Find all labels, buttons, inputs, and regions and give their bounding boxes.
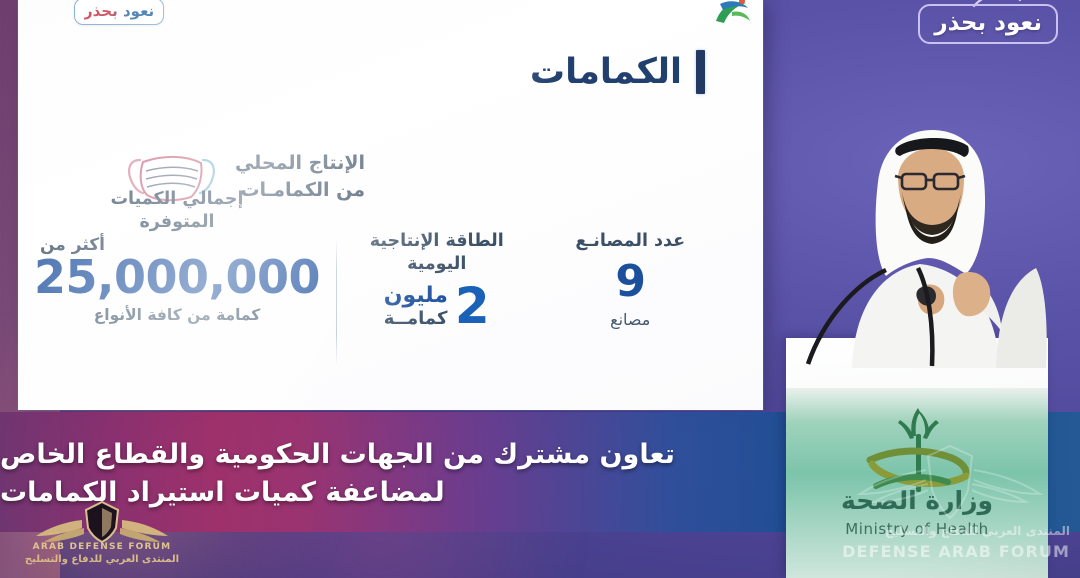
stat-daily-capacity: الطاقة الإنتاجية اليومية 2 مليون كمامــة: [337, 230, 537, 330]
stat-total-available: إجمالي الكميات المتوفرة أكثر من 25,000,0…: [18, 188, 336, 324]
stat-total-label-line1: إجمالي الكميات: [34, 188, 320, 211]
watermark-arab-defense-forum: ARAB DEFENSE FORUM المنتدى العربي للدفاع…: [12, 498, 212, 570]
stat-capacity-label-line1: الطاقة الإنتاجية: [353, 230, 521, 253]
banner-line-1: تعاون مشترك من الجهات الحكومية والقطاع ا…: [0, 436, 675, 474]
watermark-left-ar: المنتدى العربي للدفاع والتسليح: [12, 554, 192, 565]
stat-total-label-line2: المتوفرة: [34, 211, 320, 234]
adf-shield-icon: [12, 498, 192, 548]
watermark-right-ar: المنتدى العربي للدفاع والتسليح: [820, 524, 1070, 538]
moh-ribbon-logo: [696, 0, 763, 30]
campaign-logo-broadcast: نعود بحذر: [918, 4, 1058, 44]
slide-title-row: الكمامات: [530, 50, 705, 94]
watermark-defense-arab-forum: المنتدى العربي للدفاع والتسليح DEFENSE A…: [816, 430, 1076, 570]
campaign-logo-slide-text: نعود بحذر: [84, 2, 154, 20]
speaker-person: [800, 118, 1048, 368]
title-accent-bar: [696, 50, 705, 94]
local-production-line1: الإنتاج المحلي: [235, 150, 365, 177]
stat-factories-value: 9: [553, 259, 707, 305]
stat-capacity-unit-mask: كمامــة: [384, 309, 448, 329]
stat-factories-unit: مصانع: [553, 310, 707, 329]
watermark-right-en: DEFENSE ARAB FORUM: [820, 542, 1070, 561]
stat-capacity-value-group: 2 مليون كمامــة: [353, 283, 521, 331]
stat-capacity-label-line2: اليومية: [353, 253, 521, 276]
stat-capacity-units: مليون كمامــة: [384, 284, 448, 329]
stat-capacity-unit-million: مليون: [384, 284, 448, 309]
watermark-left-en: ARAB DEFENSE FORUM: [12, 542, 192, 552]
statistics-strip: عدد المصانـع 9 مصانع الطاقة الإنتاجية ال…: [18, 230, 763, 380]
stat-capacity-value: 2: [455, 283, 490, 331]
broadcast-frame: نعود بحذر الكمامات الإنتاج المحلي من الك…: [0, 0, 1080, 578]
stat-total-sub: كمامة من كافة الأنواع: [34, 306, 320, 324]
slide-title: الكمامات: [530, 52, 682, 92]
campaign-logo-broadcast-text: نعود بحذر: [934, 10, 1042, 36]
stat-factories: عدد المصانـع 9 مصانع: [537, 230, 723, 329]
presentation-slide: نعود بحذر الكمامات الإنتاج المحلي من الك…: [18, 0, 763, 410]
stat-total-value: 25,000,000: [34, 251, 320, 304]
stat-factories-label: عدد المصانـع: [553, 230, 707, 253]
campaign-logo-slide: نعود بحذر: [74, 0, 164, 25]
